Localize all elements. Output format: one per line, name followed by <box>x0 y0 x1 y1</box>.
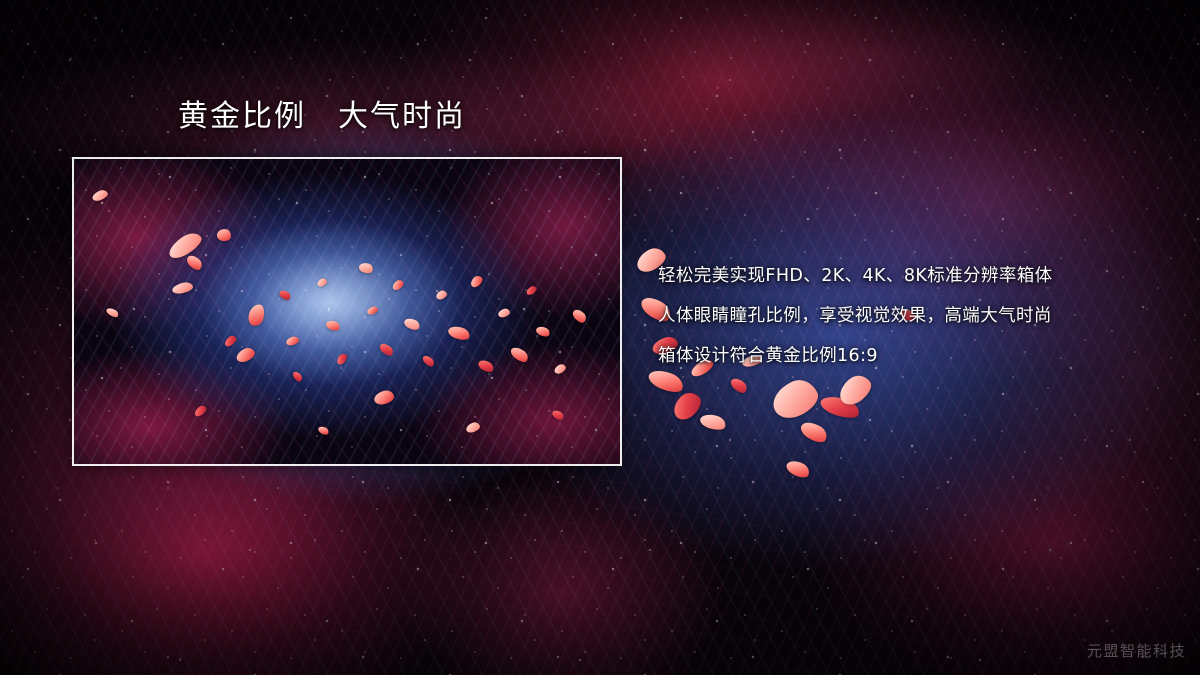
slide-title: 黄金比例 大气时尚 <box>178 100 466 135</box>
preview-image <box>74 159 620 464</box>
slide-canvas: 黄金比例 大气时尚 轻松完美实现FHD、2K、4K、8K标准分辨率箱体 人体眼睛… <box>0 0 1200 675</box>
body-line-3: 箱体设计符合黄金比例16:9 <box>658 336 1158 376</box>
preview-image-frame <box>72 157 622 466</box>
body-line-1: 轻松完美实现FHD、2K、4K、8K标准分辨率箱体 <box>658 256 1158 296</box>
body-copy: 轻松完美实现FHD、2K、4K、8K标准分辨率箱体 人体眼睛瞳孔比例，享受视觉效… <box>658 256 1158 376</box>
preview-filament-texture <box>74 159 620 464</box>
body-line-2: 人体眼睛瞳孔比例，享受视觉效果，高端大气时尚 <box>658 296 1158 336</box>
watermark: 元盟智能科技 <box>1087 640 1186 661</box>
